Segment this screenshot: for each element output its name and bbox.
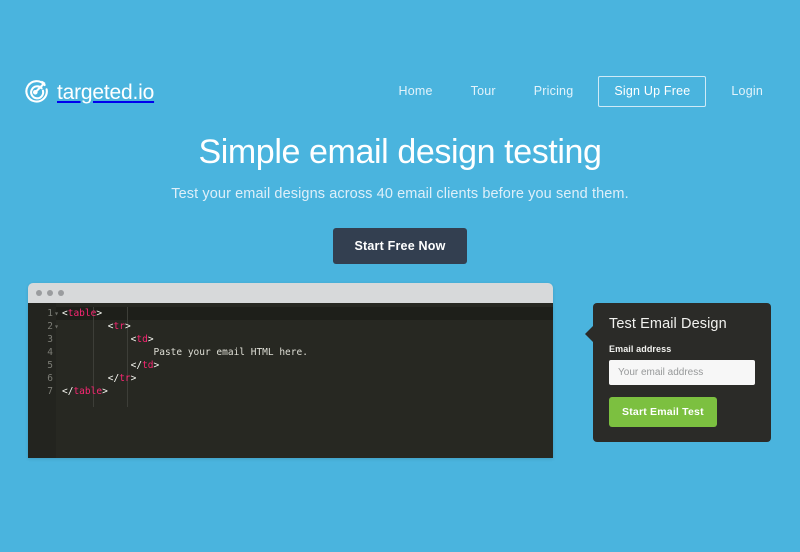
email-address-input[interactable] (609, 360, 755, 385)
code-line-3: <td> (62, 333, 553, 346)
gutter-line-3: 3 (28, 333, 53, 346)
brand-logo[interactable]: targeted.io (22, 79, 154, 105)
window-maximize-icon[interactable] (58, 290, 64, 296)
target-bullseye-arrow-icon (22, 79, 48, 105)
editor-titlebar (28, 283, 553, 303)
hero-section: Simple email design testing Test your em… (0, 132, 800, 264)
main-navigation: Home Tour Pricing Sign Up Free Login (379, 76, 782, 107)
nav-item-pricing[interactable]: Pricing (515, 78, 593, 105)
code-line-5: </td> (62, 359, 553, 372)
nav-item-tour[interactable]: Tour (452, 78, 515, 105)
code-line-4: Paste your email HTML here. (62, 346, 553, 359)
gutter-line-2: 2▾ (28, 320, 53, 333)
gutter-line-7: 7 (28, 385, 53, 398)
start-free-now-button[interactable]: Start Free Now (333, 228, 466, 264)
editor-body[interactable]: 1▾ 2▾ 3 4 5 6 7 <table> <tr> <td> Paste … (28, 303, 553, 458)
panel-title: Test Email Design (609, 317, 755, 332)
code-line-7: </table> (62, 385, 553, 398)
code-editor-window: 1▾ 2▾ 3 4 5 6 7 <table> <tr> <td> Paste … (28, 283, 553, 458)
start-email-test-button[interactable]: Start Email Test (609, 397, 717, 427)
brand-name: targeted.io (57, 82, 154, 103)
panel-pointer-arrow-icon (585, 325, 594, 343)
test-email-design-panel: Test Email Design Email address Start Em… (593, 303, 771, 442)
code-line-6: </tr> (62, 372, 553, 385)
gutter-line-5: 5 (28, 359, 53, 372)
sign-up-free-button[interactable]: Sign Up Free (598, 76, 706, 107)
page-title: Simple email design testing (0, 132, 800, 173)
gutter-line-4: 4 (28, 346, 53, 359)
email-address-label: Email address (609, 344, 755, 354)
site-header: targeted.io Home Tour Pricing Sign Up Fr… (0, 76, 800, 122)
code-line-2: <tr> (62, 320, 553, 333)
brand-tld: .io (132, 81, 154, 104)
window-close-icon[interactable] (36, 290, 42, 296)
code-line-1: <table> (62, 307, 553, 320)
window-minimize-icon[interactable] (47, 290, 53, 296)
hero-subtitle: Test your email designs across 40 email … (0, 186, 800, 202)
nav-item-home[interactable]: Home (379, 78, 451, 105)
gutter-marker-1 (29, 307, 34, 320)
gutter-line-1: 1▾ (28, 307, 53, 320)
gutter-line-6: 6 (28, 372, 53, 385)
editor-code-area[interactable]: <table> <tr> <td> Paste your email HTML … (56, 303, 553, 458)
editor-line-number-gutter: 1▾ 2▾ 3 4 5 6 7 (28, 303, 56, 458)
nav-item-login[interactable]: Login (712, 78, 782, 105)
